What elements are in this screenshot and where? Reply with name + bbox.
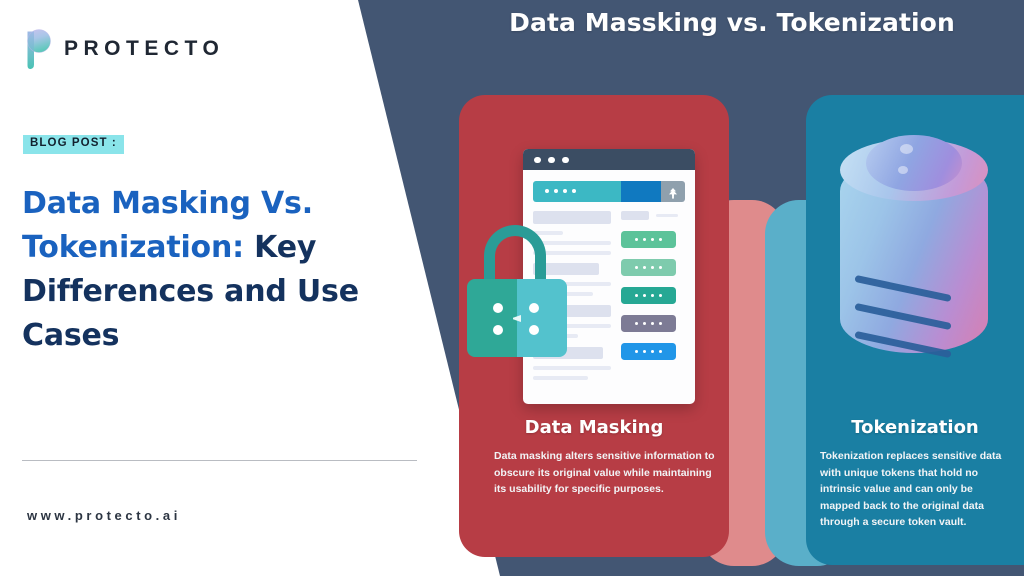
card-body-tokenization: Tokenization replaces sensitive data wit… bbox=[820, 448, 1016, 531]
brand-logo[interactable]: PROTECTO bbox=[22, 28, 224, 70]
database-indicator-dot bbox=[900, 144, 913, 154]
database-top-inner-disc bbox=[866, 135, 962, 191]
website-url[interactable]: www.protecto.ai bbox=[27, 508, 181, 523]
search-action-button[interactable] bbox=[661, 181, 685, 202]
search-input[interactable] bbox=[533, 181, 621, 202]
padlock-icon bbox=[467, 225, 567, 357]
comparison-title: Data Massking vs. Tokenization bbox=[440, 8, 1024, 37]
window-dot-icon bbox=[562, 157, 569, 164]
brand-wordmark: PROTECTO bbox=[64, 37, 224, 61]
card-heading-tokenization: Tokenization bbox=[806, 417, 1024, 438]
window-dot-icon bbox=[534, 157, 541, 164]
card-body-masking: Data masking alters sensitive informatio… bbox=[494, 448, 716, 498]
page-title: Data Masking Vs. Tokenization: Key Diffe… bbox=[22, 182, 412, 358]
card-data-masking[interactable]: Data Masking Data masking alters sensiti… bbox=[459, 95, 729, 557]
blog-post-badge: BLOG POST : bbox=[23, 135, 124, 154]
placeholder-line bbox=[621, 211, 649, 220]
masked-value-pill bbox=[621, 231, 676, 248]
masked-value-pill bbox=[621, 343, 676, 360]
database-cylinder-illustration bbox=[840, 135, 988, 373]
masked-value-pill bbox=[621, 287, 676, 304]
masked-value-pill bbox=[621, 315, 676, 332]
masked-value-dots bbox=[545, 189, 576, 193]
masked-value-pill bbox=[621, 259, 676, 276]
placeholder-line bbox=[656, 214, 678, 217]
protecto-p-logo-icon bbox=[22, 28, 52, 70]
search-progress bbox=[621, 181, 661, 202]
search-bar[interactable] bbox=[533, 181, 685, 202]
blog-post-banner: PROTECTO BLOG POST : Data Masking Vs. To… bbox=[0, 0, 1024, 576]
card-heading-masking: Data Masking bbox=[459, 417, 729, 438]
database-indicator-dot bbox=[898, 166, 908, 174]
divider bbox=[22, 460, 417, 461]
left-content-column: PROTECTO BLOG POST : Data Masking Vs. To… bbox=[0, 0, 430, 576]
upload-tree-icon bbox=[668, 186, 678, 197]
browser-titlebar bbox=[523, 149, 695, 170]
window-dot-icon bbox=[548, 157, 555, 164]
placeholder-line bbox=[533, 211, 611, 224]
placeholder-line bbox=[533, 366, 611, 370]
card-tokenization[interactable]: Tokenization Tokenization replaces sensi… bbox=[806, 95, 1024, 565]
padlock-body bbox=[467, 279, 567, 357]
placeholder-line bbox=[533, 376, 588, 380]
